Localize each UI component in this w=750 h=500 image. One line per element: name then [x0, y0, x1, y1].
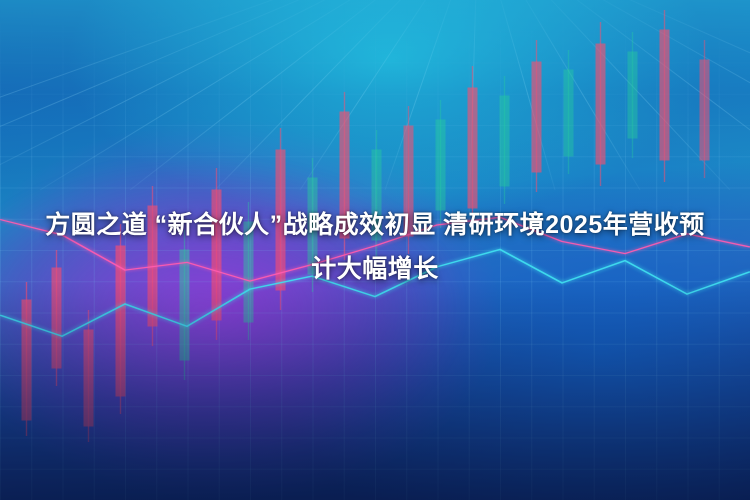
headline-line-1: 方圆之道 “新合伙人”战略成效初显 清研环境2025年营收预 — [18, 203, 732, 247]
banner-image: 方圆之道 “新合伙人”战略成效初显 清研环境2025年营收预 计大幅增长 — [0, 0, 750, 500]
background-bottom-shade — [0, 280, 750, 500]
headline-line-2: 计大幅增长 — [18, 247, 732, 291]
headline: 方圆之道 “新合伙人”战略成效初显 清研环境2025年营收预 计大幅增长 — [0, 203, 750, 291]
